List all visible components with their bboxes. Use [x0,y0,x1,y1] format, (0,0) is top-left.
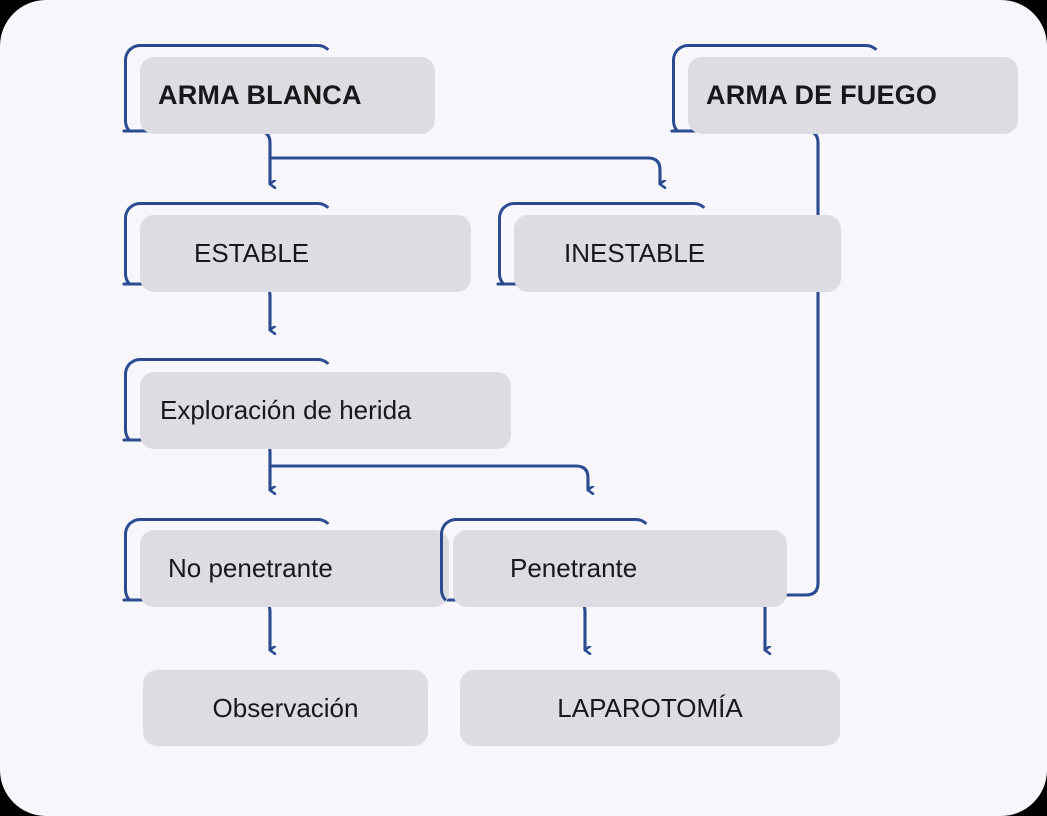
edge-penetrante-to-laparotomia [440,600,585,650]
node-inestable-chip: INESTABLE [514,215,841,292]
node-estable-chip: ESTABLE [140,215,471,292]
node-observacion-label: Observación [213,693,359,724]
node-penetrante-label: Penetrante [510,553,637,584]
node-arma-de-fuego-label: ARMA DE FUEGO [706,80,937,111]
node-laparotomia-chip: LAPAROTOMÍA [460,670,840,746]
edge-no-penetrante-to-observacion [124,600,270,650]
node-penetrante-chip: Penetrante [453,530,787,607]
node-arma-blanca-chip: ARMA BLANCA [140,57,435,134]
node-no-penetrante-chip: No penetrante [140,530,449,607]
node-laparotomia-label: LAPAROTOMÍA [557,693,742,724]
node-no-penetrante-label: No penetrante [168,553,333,584]
node-arma-blanca-label: ARMA BLANCA [158,80,362,111]
node-exploracion-de-herida-label: Exploración de herida [160,395,412,426]
node-arma-de-fuego-chip: ARMA DE FUEGO [688,57,1018,134]
edge-arma-blanca-to-estable [124,131,270,184]
edge-arma-blanca-to-inestable [270,158,660,184]
edge-exploracion-to-penetrante [270,466,588,490]
node-observacion-chip: Observación [143,670,428,746]
node-estable-label: ESTABLE [194,238,309,269]
node-exploracion-de-herida-chip: Exploración de herida [140,372,511,449]
flowchart-canvas: ARMA BLANCA ARMA DE FUEGO ESTABLE INESTA… [0,0,1047,816]
node-inestable-label: INESTABLE [564,238,705,269]
